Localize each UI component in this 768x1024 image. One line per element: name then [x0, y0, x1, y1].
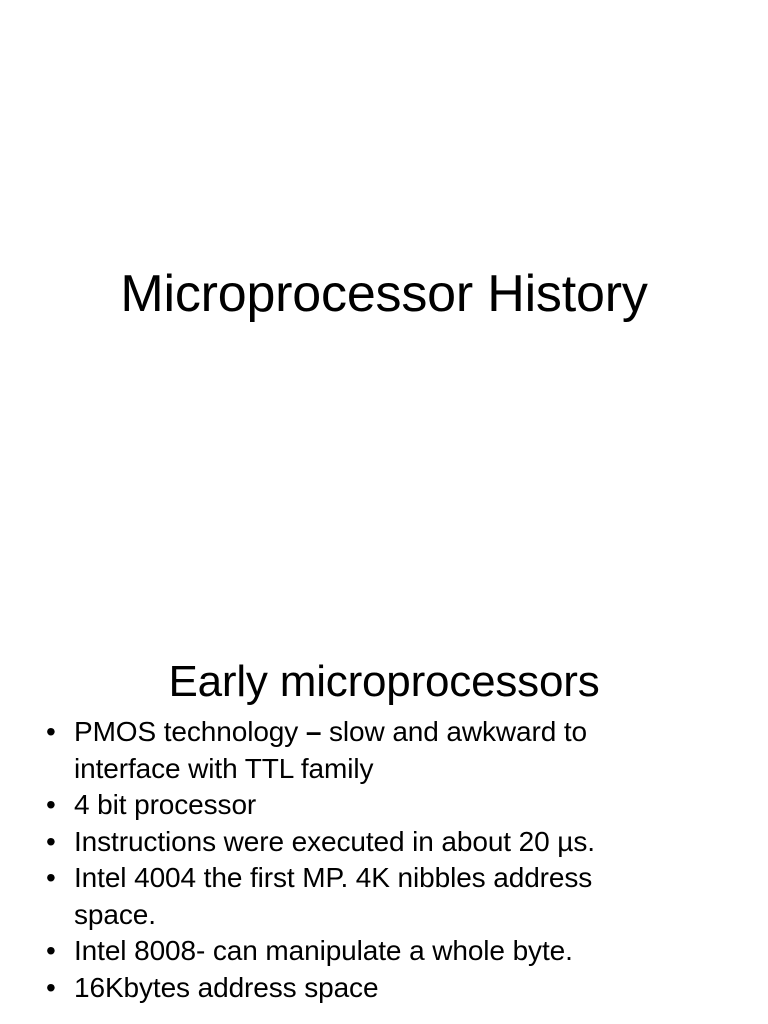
- page-title: Microprocessor History: [0, 263, 768, 325]
- bullet-icon: •: [46, 860, 66, 897]
- bullet-list: • PMOS technology – slow and awkward to …: [44, 714, 656, 1006]
- bullet-icon: •: [46, 824, 66, 861]
- bullet-icon: •: [46, 933, 66, 970]
- list-item-label: 16Kbytes address space: [74, 970, 656, 1007]
- list-item: • PMOS technology – slow and awkward to …: [44, 714, 656, 787]
- list-item-label: PMOS technology – slow and awkward to in…: [74, 714, 656, 787]
- list-item-label: Intel 4004 the first MP. 4K nibbles addr…: [74, 860, 656, 933]
- section-heading: Early microprocessors: [0, 655, 768, 709]
- slide-page: Microprocessor History Early microproces…: [0, 0, 768, 1024]
- list-item: • Intel 8008- can manipulate a whole byt…: [44, 933, 656, 970]
- list-item-label: Instructions were executed in about 20 µ…: [74, 824, 656, 861]
- list-item: • Intel 4004 the first MP. 4K nibbles ad…: [44, 860, 656, 933]
- list-item-label: Intel 8008- can manipulate a whole byte.: [74, 933, 656, 970]
- list-item: • 4 bit processor: [44, 787, 656, 824]
- list-item: • 16Kbytes address space: [44, 970, 656, 1007]
- list-item: • Instructions were executed in about 20…: [44, 824, 656, 861]
- list-item-label: 4 bit processor: [74, 787, 656, 824]
- bullet-icon: •: [46, 787, 66, 824]
- bullet-icon: •: [46, 714, 66, 751]
- bullet-icon: •: [46, 970, 66, 1007]
